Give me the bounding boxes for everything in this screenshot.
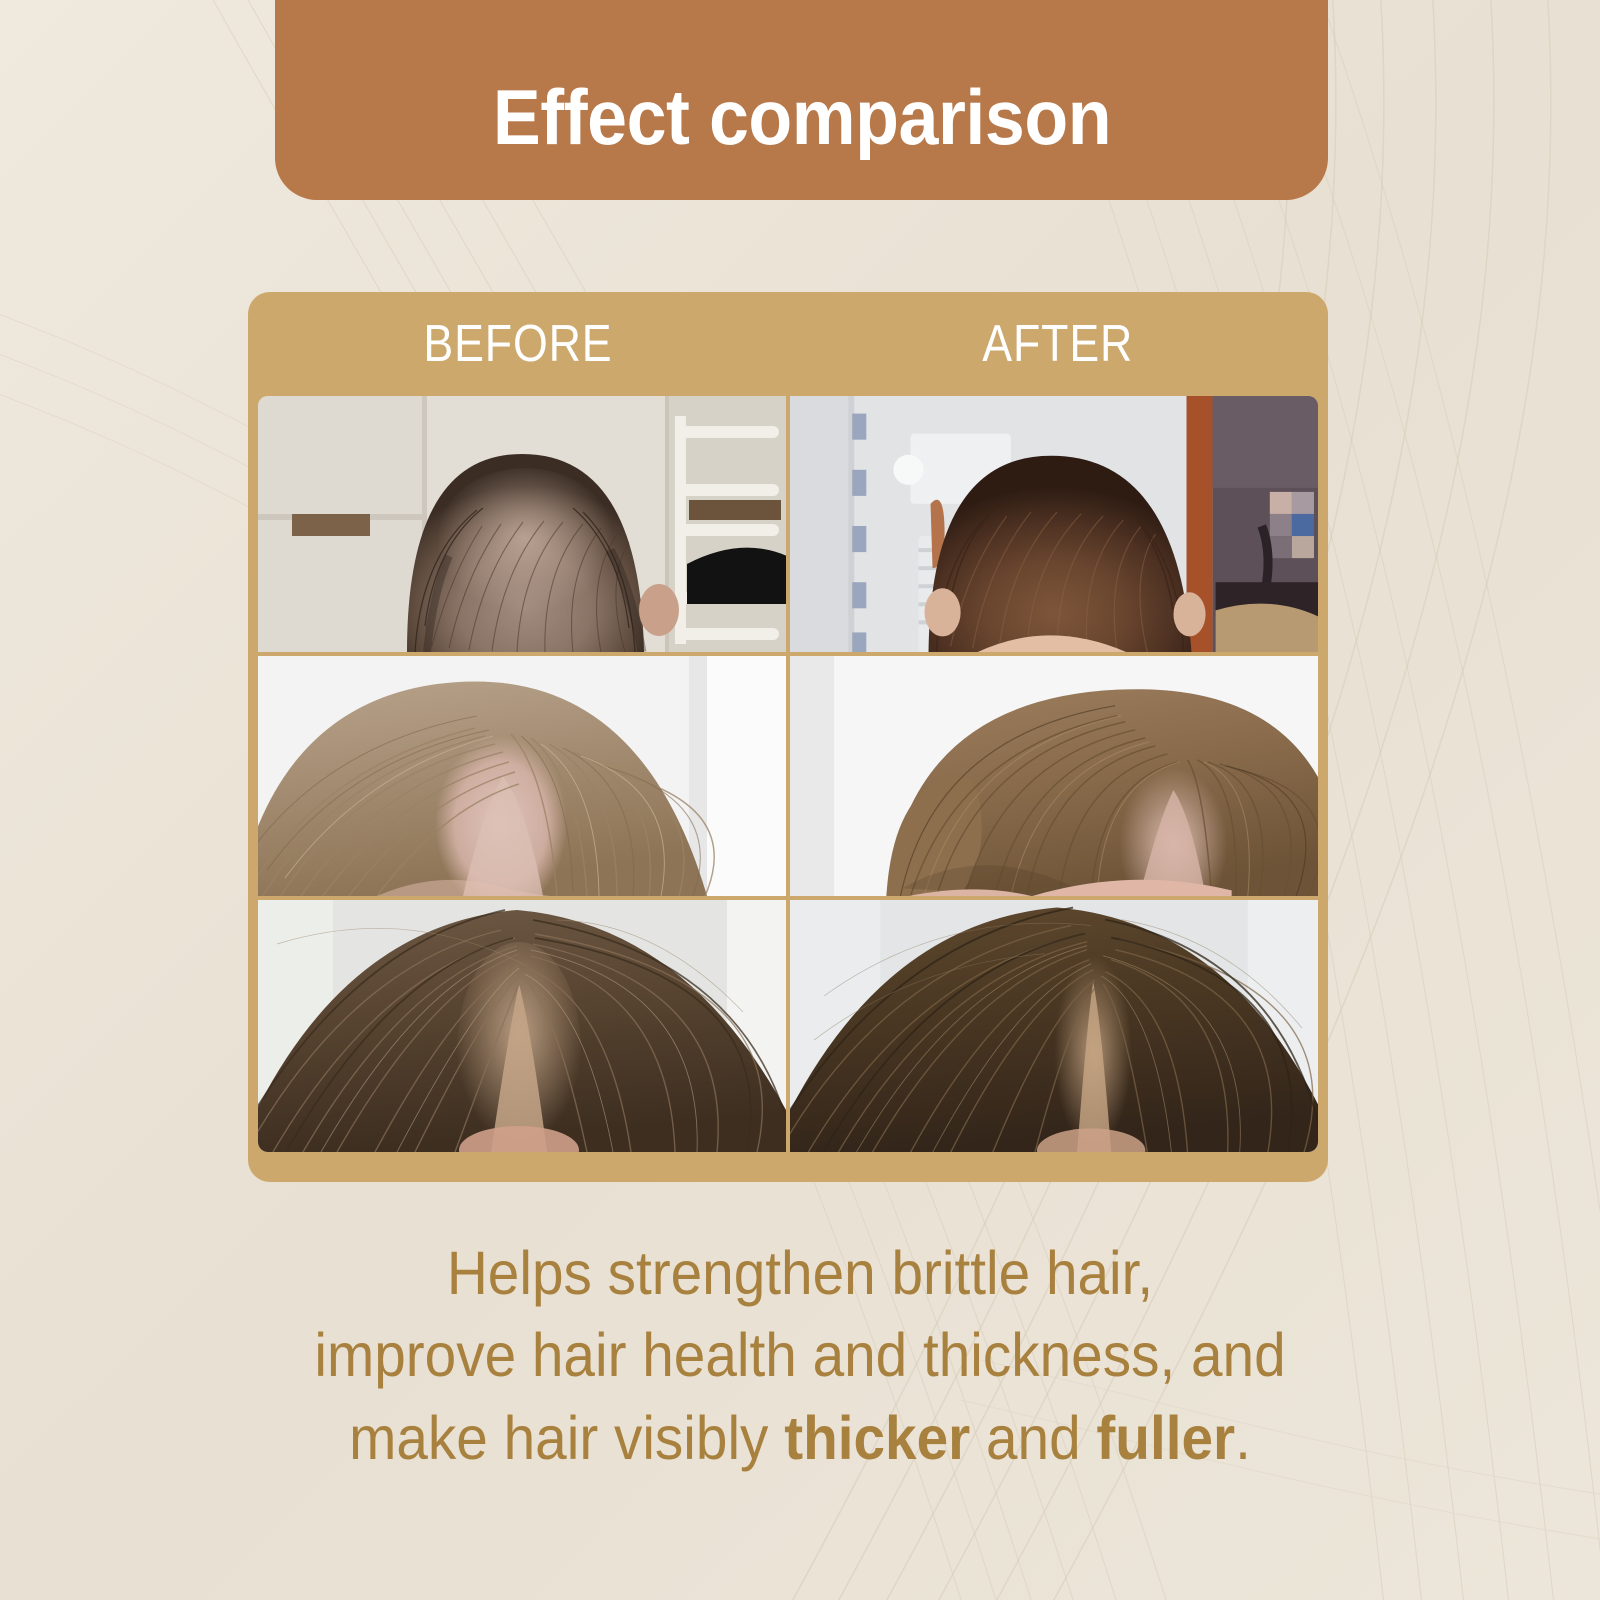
caption-line3-part2: and xyxy=(970,1404,1096,1472)
caption-line3-part3: . xyxy=(1235,1404,1251,1472)
column-headers: BEFORE AFTER xyxy=(248,292,1328,396)
photo-row1-after xyxy=(790,396,1318,652)
caption-bold-fuller: fuller xyxy=(1096,1404,1235,1472)
photo-row3-after xyxy=(790,900,1318,1152)
photo-row2-after xyxy=(790,656,1318,896)
before-label: BEFORE xyxy=(423,314,612,374)
after-label: AFTER xyxy=(983,314,1134,374)
comparison-card: BEFORE AFTER xyxy=(248,292,1328,1182)
caption-line-2: improve hair health and thickness, and xyxy=(196,1314,1405,1396)
product-caption: Helps strengthen brittle hair, improve h… xyxy=(150,1232,1450,1479)
caption-line-1: Helps strengthen brittle hair, xyxy=(196,1232,1405,1314)
page-title: Effect comparison xyxy=(492,78,1110,156)
header-banner: Effect comparison xyxy=(275,0,1328,200)
photo-row3-before xyxy=(258,900,786,1152)
caption-line-3: make hair visibly thicker and fuller. xyxy=(196,1397,1405,1479)
photo-row1-before xyxy=(258,396,786,652)
column-header-after: AFTER xyxy=(788,292,1328,396)
caption-bold-thicker: thicker xyxy=(784,1404,970,1472)
product-comparison-page: Effect comparison BEFORE AFTER xyxy=(0,0,1600,1600)
photo-row2-before xyxy=(258,656,786,896)
caption-line3-part1: make hair visibly xyxy=(349,1404,784,1472)
column-header-before: BEFORE xyxy=(248,292,788,396)
photo-grid xyxy=(258,396,1318,1144)
